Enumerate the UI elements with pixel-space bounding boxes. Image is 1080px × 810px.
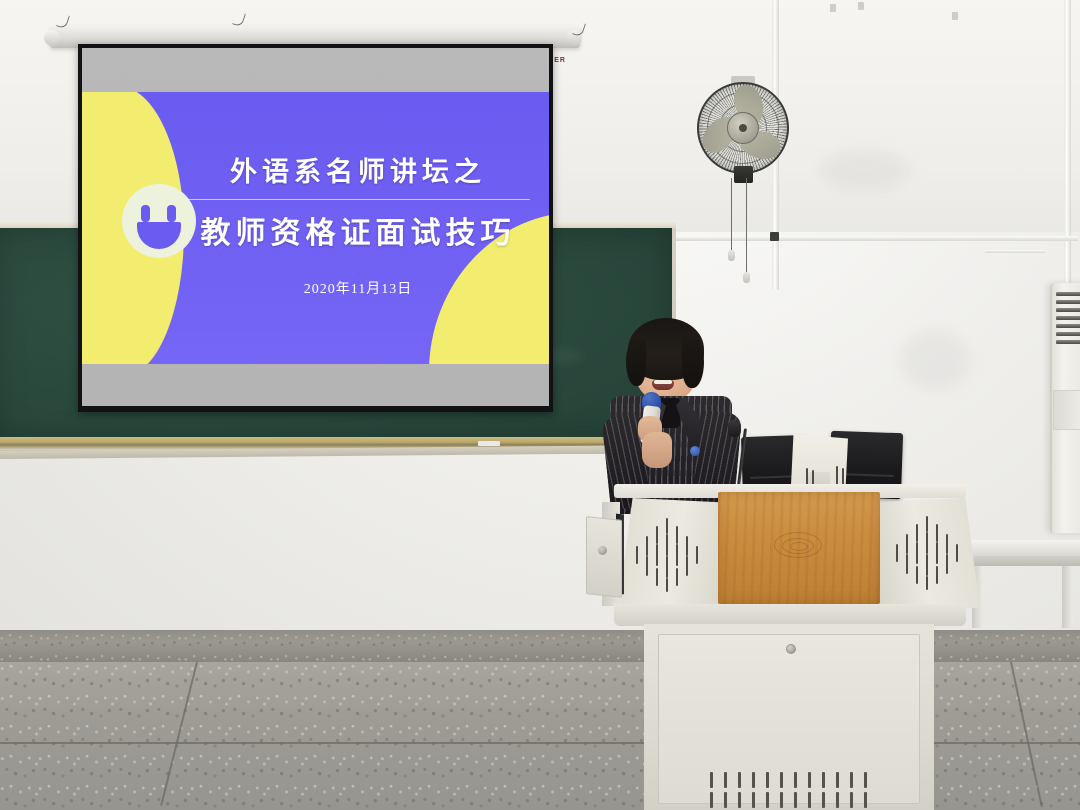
wall-anchor — [858, 2, 864, 10]
ac-louver — [1056, 324, 1080, 328]
fan-pull-cord[interactable] — [746, 178, 747, 274]
lectern-cabinet-door[interactable] — [658, 634, 920, 804]
wood-grain-knot — [790, 542, 808, 551]
lectern-wood-front-panel — [718, 492, 880, 604]
lapel-badge — [690, 446, 700, 456]
gooseneck-microphone-head[interactable] — [728, 420, 741, 437]
wall-conduit-pipe — [1064, 0, 1071, 300]
slide-text-block: 外语系名师讲坛之 教师资格证面试技巧 2020年11月13日 — [178, 150, 538, 298]
slide-title-line-2: 教师资格证面试技巧 — [178, 208, 538, 252]
ledge-support-leg — [1062, 566, 1073, 628]
lectern-skirt — [614, 604, 966, 626]
slide-title-line-1: 外语系名师讲坛之 — [178, 150, 538, 189]
smiley-eye-right — [167, 205, 176, 222]
lectern-speaker-grille-right — [892, 514, 964, 588]
lectern[interactable] — [600, 484, 982, 810]
wall-smudge — [820, 150, 910, 190]
lectern-speaker-grille-left — [632, 516, 704, 590]
ac-louver — [1056, 292, 1080, 296]
slide-divider — [186, 199, 530, 200]
ac-louver — [1056, 332, 1080, 336]
fan-pull-cord-toggle[interactable] — [743, 272, 750, 283]
ac-louver — [1056, 316, 1080, 320]
projected-slide: 外语系名师讲坛之 教师资格证面试技巧 2020年11月13日 — [82, 92, 549, 364]
wall-conduit-pipe — [778, 236, 1078, 241]
smiley-mouth — [137, 224, 181, 249]
cabinet-lock-button[interactable] — [786, 644, 796, 654]
lecture-hall-photo: CLEVER 外语系名师讲坛之 教师资格证面试技巧 2020年11月13日 — [0, 0, 1080, 810]
presenter-hand-lower — [642, 432, 672, 468]
fan-pull-cord-toggle[interactable] — [728, 250, 735, 261]
fan-pull-cord[interactable] — [731, 178, 732, 252]
slide-date: 2020年11月13日 — [178, 278, 538, 298]
wall-anchor — [952, 12, 958, 20]
conduit-clamp — [770, 232, 779, 241]
lectern-side-drawer[interactable] — [586, 516, 622, 598]
presenter-teeth — [654, 380, 672, 384]
fan-hub-center — [739, 124, 747, 132]
ac-louver — [1056, 300, 1080, 304]
presenter — [604, 320, 744, 510]
ac-louver — [1056, 308, 1080, 312]
ac-control-panel[interactable] — [1053, 390, 1080, 430]
screen-case-end-cap — [44, 30, 60, 46]
smiley-eye-left — [141, 205, 150, 222]
wall-fan[interactable] — [697, 82, 789, 174]
drawer-knob[interactable] — [598, 546, 607, 555]
wall-anchor — [830, 4, 836, 12]
presenter-hair-right — [682, 336, 704, 388]
fan-bracket — [734, 166, 753, 183]
wall-smudge — [900, 330, 970, 390]
presenter-hair-left — [626, 338, 646, 386]
wall-conduit-pipe — [985, 250, 1045, 253]
ac-louver — [1056, 340, 1080, 344]
chalk-piece — [478, 441, 500, 446]
projection-screen: 外语系名师讲坛之 教师资格证面试技巧 2020年11月13日 — [82, 48, 549, 406]
